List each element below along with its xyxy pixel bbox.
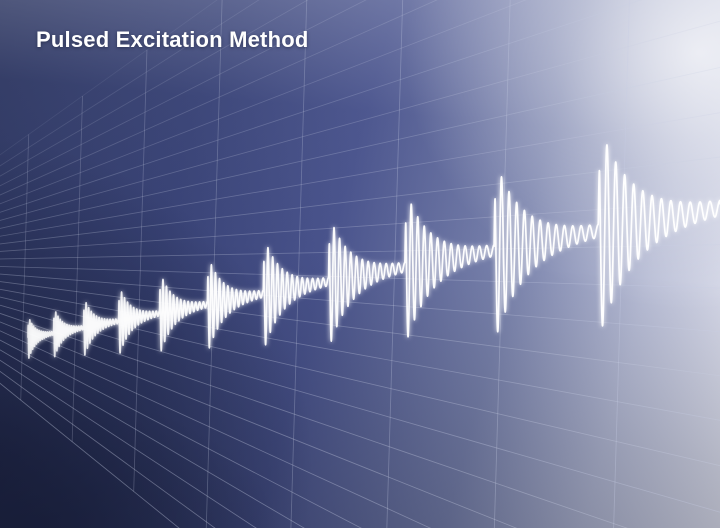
page-title: Pulsed Excitation Method [36, 27, 309, 53]
presentation-slide: Pulsed Excitation Method [0, 0, 720, 528]
pulsed-excitation-waveform [0, 0, 720, 528]
